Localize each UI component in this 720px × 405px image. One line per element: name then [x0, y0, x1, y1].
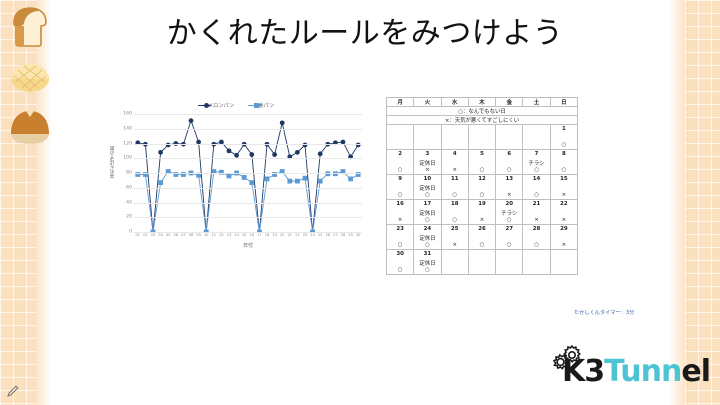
calendar-weather-mark: ○: [496, 217, 523, 225]
calendar-row: 23242526272829: [387, 225, 578, 234]
calendar-day-tag: 定休日: [414, 159, 441, 167]
calendar-day-tag: [496, 134, 523, 142]
calendar-day-number[interactable]: [441, 250, 468, 259]
calendar-weather-mark: ○: [523, 192, 550, 200]
calendar-day-number[interactable]: [550, 250, 577, 259]
calendar-day-tag: チラシ: [523, 159, 550, 167]
calendar-row: ×○○×○××: [387, 217, 578, 225]
logo-k3: K3: [562, 354, 604, 389]
calendar-dow-header: 月: [387, 98, 414, 107]
y-tick-label: 160: [123, 112, 132, 117]
x-tick-label: 12: [219, 233, 224, 237]
calendar-weather-mark: ○: [468, 192, 495, 200]
calendar-day-number[interactable]: [468, 125, 495, 134]
calendar-day-number[interactable]: [441, 125, 468, 134]
timer-note: たかしくんタイマー：3分: [574, 309, 634, 316]
calendar-day-tag: [441, 234, 468, 242]
calendar-day-number[interactable]: 8: [550, 150, 577, 159]
calendar-row: 9101112131415: [387, 175, 578, 184]
calendar-day-tag: [550, 134, 577, 142]
x-tick-label: 27: [333, 233, 338, 237]
legend-entry-shokupan: 食パン: [248, 102, 274, 109]
calendar-dow-header: 土: [523, 98, 550, 107]
calendar-day-tag: [468, 159, 495, 167]
calendar-weather-mark: ○: [523, 167, 550, 175]
calendar-day-number[interactable]: [523, 125, 550, 134]
x-tick-label: 22: [295, 233, 300, 237]
calendar-day-tag: [468, 184, 495, 192]
calendar-row: [387, 134, 578, 142]
calendar-day-number[interactable]: 28: [523, 225, 550, 234]
calendar-day-tag: [523, 234, 550, 242]
calendar-day-tag: 定休日: [414, 259, 441, 267]
calendar-weather-mark: ○: [550, 142, 577, 150]
x-tick-label: 23: [303, 233, 308, 237]
pen-icon[interactable]: [6, 384, 20, 398]
calendar-day-number[interactable]: 7: [523, 150, 550, 159]
x-tick-label: 28: [341, 233, 346, 237]
calendar-day-number[interactable]: 18: [441, 200, 468, 209]
calendar-weather-mark: ○: [468, 167, 495, 175]
calendar-weather-mark: [496, 267, 523, 275]
calendar-row: 2345678: [387, 150, 578, 159]
calendar-row: ○○×○○○×: [387, 242, 578, 250]
calendar-day-tag: [387, 259, 414, 267]
calendar-day-tag: [414, 134, 441, 142]
chart-data-point: [249, 152, 254, 157]
chart-data-point: [189, 118, 194, 123]
calendar-day-tag: [550, 184, 577, 192]
x-tick-label: 02: [143, 233, 148, 237]
x-tick-label: 15: [242, 233, 247, 237]
chart-data-point: [234, 153, 239, 158]
calendar-weather-mark: [523, 142, 550, 150]
x-tick-label: 17: [257, 233, 262, 237]
calendar-day-number[interactable]: 11: [441, 175, 468, 184]
calendar-day-tag: [550, 209, 577, 217]
chart-gridline: [134, 144, 362, 145]
calendar-weather-mark: ○: [387, 242, 414, 250]
calendar-weather-mark: ○: [441, 217, 468, 225]
calendar-weather-mark: [441, 142, 468, 150]
calendar-day-number[interactable]: 13: [496, 175, 523, 184]
calendar-weather-mark: ○: [414, 192, 441, 200]
chart-gridline: [134, 129, 362, 130]
chart-data-point: [318, 179, 323, 184]
y-tick-label: 140: [123, 126, 132, 131]
calendar-dow-header: 木: [468, 98, 495, 107]
x-tick-label: 21: [288, 233, 293, 237]
x-tick-label: 30: [356, 233, 361, 237]
x-tick-label: 13: [227, 233, 232, 237]
x-tick-label: 26: [326, 233, 331, 237]
x-tick-label: 16: [250, 233, 255, 237]
x-tick-label: 29: [348, 233, 353, 237]
chart-data-point: [158, 180, 163, 185]
calendar-weather-mark: ×: [414, 167, 441, 175]
x-tick-label: 11: [212, 233, 217, 237]
x-tick-label: 19: [272, 233, 277, 237]
calendar-row: 定休日: [387, 184, 578, 192]
calendar-day-number[interactable]: 23: [387, 225, 414, 234]
calendar-header: 月火水木金土日: [387, 98, 578, 107]
calendar-weather-mark: ×: [441, 167, 468, 175]
x-tick-label: 03: [151, 233, 156, 237]
calendar-day-number[interactable]: 6: [496, 150, 523, 159]
calendar-day-tag: [468, 209, 495, 217]
x-tick-label: 20: [280, 233, 285, 237]
calendar-weather-mark: ○: [468, 242, 495, 250]
calendar-day-tag: [523, 209, 550, 217]
calendar-body: ○：なんでもない日×：天気が悪くてすごしにくい1○2345678定休日チラシ○×…: [387, 107, 578, 275]
calendar-weather-mark: ×: [550, 192, 577, 200]
calendar-weather-mark: ×: [523, 217, 550, 225]
calendar-day-number[interactable]: 5: [468, 150, 495, 159]
page-title: かくれたルールをみつけよう: [140, 8, 590, 52]
chart-data-point: [249, 180, 254, 185]
legend-entry-melonpan: メロンパン: [198, 102, 234, 109]
logo-tunn: Tunn: [604, 354, 681, 389]
chart-data-point: [158, 150, 163, 155]
calendar-day-tag: [550, 259, 577, 267]
calendar-dow-header: 水: [441, 98, 468, 107]
chart-data-point: [303, 176, 308, 181]
calendar-weather-mark: ×: [550, 217, 577, 225]
y-tick-label: 80: [126, 171, 132, 176]
x-tick-label: 18: [265, 233, 270, 237]
calendar-day-tag: 定休日: [414, 234, 441, 242]
calendar-row: 定休日: [387, 234, 578, 242]
calendar-day-number[interactable]: 20: [496, 200, 523, 209]
x-tick-label: 24: [310, 233, 315, 237]
calendar-dow-header: 金: [496, 98, 523, 107]
calendar-weather-mark: ×: [550, 242, 577, 250]
calendar-day-tag: [441, 259, 468, 267]
sliced-bread-icon: [8, 6, 52, 48]
calendar-row: 1: [387, 125, 578, 134]
calendar-day-tag: [387, 134, 414, 142]
x-tick-label: 10: [204, 233, 209, 237]
calendar-weather-mark: ○: [387, 267, 414, 275]
x-axis-ticks: 0102030405060708091011121314151617181920…: [134, 233, 362, 242]
x-tick-label: 14: [234, 233, 239, 237]
calendar-row: ○○: [387, 267, 578, 275]
k3tunnel-logo: K3Tunnel: [546, 344, 692, 390]
chart-data-point: [318, 151, 323, 156]
calendar-day-tag: [523, 184, 550, 192]
calendar-day-number[interactable]: 1: [550, 125, 577, 134]
calendar-weather-mark: [496, 142, 523, 150]
calendar-header-row: 月火水木金土日: [387, 98, 578, 107]
calendar-legend-row: ○：なんでもない日: [387, 107, 578, 116]
chart-gridline: [134, 217, 362, 218]
calendar-day-tag: [496, 259, 523, 267]
calendar-day-number[interactable]: 15: [550, 175, 577, 184]
chart-data-point: [265, 177, 270, 182]
calendar-day-tag: 定休日: [414, 209, 441, 217]
chart-plot-area: [134, 114, 362, 232]
chart-data-point: [295, 179, 300, 184]
chart-gridline: [134, 158, 362, 159]
calendar-day-tag: [496, 234, 523, 242]
x-tick-label: 04: [158, 233, 163, 237]
chart-data-point: [295, 150, 300, 155]
calendar-day-number[interactable]: 17: [414, 200, 441, 209]
chart-gridline: [134, 203, 362, 204]
melon-bread-icon: [8, 60, 52, 96]
calendar-day-number[interactable]: 30: [387, 250, 414, 259]
chart-data-point: [280, 120, 285, 125]
x-tick-label: 06: [174, 233, 179, 237]
calendar-weather-mark: ○: [414, 242, 441, 250]
calendar-day-tag: [496, 159, 523, 167]
calendar-weather-mark: ×: [496, 192, 523, 200]
calendar-weather-mark: ○: [414, 267, 441, 275]
calendar-weather-mark: ○: [550, 167, 577, 175]
chart-gridline: [134, 188, 362, 189]
y-tick-label: 40: [126, 200, 132, 205]
calendar-day-tag: [468, 259, 495, 267]
x-tick-label: 01: [136, 233, 141, 237]
calendar-weather-mark: ○: [441, 192, 468, 200]
calendar-day-tag: [523, 134, 550, 142]
calendar-day-tag: [523, 259, 550, 267]
calendar-day-number[interactable]: 2: [387, 150, 414, 159]
shop-calendar-table: 月火水木金土日 ○：なんでもない日×：天気が悪くてすごしにくい1○2345678…: [386, 97, 578, 275]
calendar-row: 3031: [387, 250, 578, 259]
calendar-row: ○: [387, 142, 578, 150]
calendar-dow-header: 日: [550, 98, 577, 107]
calendar-day-tag: [441, 209, 468, 217]
x-tick-label: 25: [318, 233, 323, 237]
calendar-row: ○○○○×○×: [387, 192, 578, 200]
calendar-day-tag: [387, 209, 414, 217]
legend-label-shokupan: 食パン: [252, 102, 274, 109]
logo-wordmark: K3Tunnel: [562, 354, 710, 389]
legend-cross-note: ×：天気が悪くてすごしにくい: [387, 116, 578, 125]
calendar-day-tag: [441, 184, 468, 192]
chart-legend: メロンパン 食パン: [110, 98, 362, 112]
calendar-weather-mark: ○: [496, 167, 523, 175]
calendar-day-tag: [441, 134, 468, 142]
calendar-day-number[interactable]: [496, 125, 523, 134]
y-axis-ticks: 020406080100120140160: [118, 114, 132, 232]
chart-gridline: [134, 173, 362, 174]
calendar-day-number[interactable]: 19: [468, 200, 495, 209]
calendar-weather-mark: [523, 267, 550, 275]
y-tick-label: 60: [126, 185, 132, 190]
calendar-weather-mark: [441, 267, 468, 275]
x-tick-label: 07: [181, 233, 186, 237]
calendar-weather-mark: ○: [496, 242, 523, 250]
y-tick-label: 0: [129, 230, 132, 235]
chart-data-point: [227, 148, 232, 153]
calendar-day-tag: 定休日: [414, 184, 441, 192]
calendar-day-number[interactable]: 16: [387, 200, 414, 209]
calendar-weather-mark: ○: [414, 217, 441, 225]
calendar-day-number[interactable]: 3: [414, 150, 441, 159]
calendar-day-number[interactable]: [496, 250, 523, 259]
round-bun-icon: [8, 108, 52, 146]
calendar-row: 定休日: [387, 259, 578, 267]
x-tick-label: 09: [196, 233, 201, 237]
chart-plot-wrapper: 売れたはずの数 020406080100120140160 0102030405…: [110, 114, 362, 254]
calendar-day-number[interactable]: [523, 250, 550, 259]
x-axis-title: 日付: [134, 242, 362, 249]
calendar-day-number[interactable]: 27: [496, 225, 523, 234]
calendar-day-number[interactable]: 31: [414, 250, 441, 259]
calendar-day-tag: [550, 234, 577, 242]
calendar-day-tag: [387, 184, 414, 192]
calendar-row: 定休日チラシ: [387, 209, 578, 217]
chart-gridline: [134, 114, 362, 115]
chart-data-point: [287, 179, 292, 184]
calendar-day-number[interactable]: 25: [441, 225, 468, 234]
calendar-weather-mark: ×: [441, 242, 468, 250]
slide-canvas: かくれたルールをみつけよう メロンパン 食パン 売れたはずの数 02040608…: [0, 0, 720, 405]
calendar-weather-mark: ×: [387, 217, 414, 225]
x-tick-label: 05: [166, 233, 171, 237]
calendar-row: 定休日チラシ: [387, 159, 578, 167]
calendar-weather-mark: ○: [523, 242, 550, 250]
calendar-weather-mark: ○: [387, 167, 414, 175]
calendar-day-number[interactable]: 29: [550, 225, 577, 234]
y-tick-label: 120: [123, 141, 132, 146]
calendar-day-tag: [387, 159, 414, 167]
chart-data-point: [348, 177, 353, 182]
calendar-day-tag: [468, 134, 495, 142]
calendar-weather-mark: [387, 142, 414, 150]
calendar-row: 16171819202122: [387, 200, 578, 209]
calendar-day-number[interactable]: 10: [414, 175, 441, 184]
calendar-day-number[interactable]: 22: [550, 200, 577, 209]
y-axis-title: 売れたはずの数: [110, 146, 116, 178]
sales-line-chart: メロンパン 食パン 売れたはずの数 020406080100120140160 …: [110, 98, 362, 268]
calendar-day-number[interactable]: 21: [523, 200, 550, 209]
calendar-weather-mark: [468, 142, 495, 150]
calendar-day-number[interactable]: 14: [523, 175, 550, 184]
y-tick-label: 20: [126, 215, 132, 220]
calendar-day-tag: [468, 234, 495, 242]
calendar-day-tag: [441, 159, 468, 167]
calendar-day-tag: [387, 234, 414, 242]
chart-data-point: [272, 152, 277, 157]
calendar-day-tag: [496, 184, 523, 192]
calendar-weather-mark: [414, 142, 441, 150]
calendar-day-number[interactable]: 9: [387, 175, 414, 184]
calendar-day-number[interactable]: [414, 125, 441, 134]
legend-label-melonpan: メロンパン: [202, 102, 234, 109]
x-tick-label: 08: [189, 233, 194, 237]
calendar-day-number[interactable]: 24: [414, 225, 441, 234]
calendar-weather-mark: [550, 267, 577, 275]
calendar-legend-row: ×：天気が悪くてすごしにくい: [387, 116, 578, 125]
calendar-dow-header: 火: [414, 98, 441, 107]
chart-data-point: [227, 174, 232, 179]
logo-el: el: [681, 354, 710, 389]
calendar-day-tag: チラシ: [496, 209, 523, 217]
calendar-day-tag: [550, 159, 577, 167]
calendar-day-number[interactable]: [468, 250, 495, 259]
y-tick-label: 100: [123, 156, 132, 161]
chart-data-point: [242, 175, 247, 180]
calendar-weather-mark: [468, 267, 495, 275]
calendar-day-number[interactable]: 4: [441, 150, 468, 159]
calendar-day-number[interactable]: 12: [468, 175, 495, 184]
legend-circle-note: ○：なんでもない日: [387, 107, 578, 116]
calendar-weather-mark: ○: [387, 192, 414, 200]
calendar-weather-mark: ×: [468, 217, 495, 225]
calendar-row: ○××○○○○: [387, 167, 578, 175]
calendar-day-number[interactable]: [387, 125, 414, 134]
calendar-day-number[interactable]: 26: [468, 225, 495, 234]
